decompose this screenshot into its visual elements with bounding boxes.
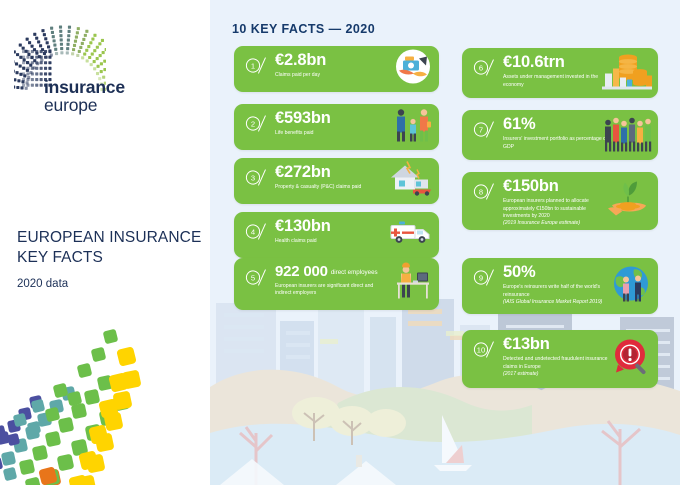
fact-description-text: Life benefits paid	[275, 130, 314, 136]
fact-description-text: Claims paid per day	[275, 72, 320, 78]
globe-business-people-icon	[610, 264, 652, 309]
fact-number-badge-8: 8	[473, 181, 496, 202]
main-panel: 10 KEY FACTS — 2020 1 €2.8bnClaims paid …	[210, 0, 680, 485]
fact-card-8[interactable]: 8 €150bnEuropean insurers planned to all…	[462, 172, 658, 230]
fact-card-2[interactable]: 2 €593bnLife benefits paid	[234, 104, 439, 150]
brand-wordmark: insurance europe	[44, 78, 125, 115]
fact-description-text: Health claims paid	[275, 238, 317, 244]
svg-text:10: 10	[477, 345, 485, 354]
fact-note-9: (IAIS Global Insurance Market Report 201…	[503, 299, 602, 305]
svg-text:2: 2	[251, 119, 255, 128]
fact-value-2: €593bn	[275, 110, 395, 128]
fact-body: €13bnDetected and undetected fraudulent …	[503, 336, 614, 378]
office-worker-desk-icon	[393, 263, 433, 306]
left-panel: insurance europe EUROPEAN INSURANCE KEY …	[0, 0, 210, 485]
fact-description-text: Property & casualty (P&C) claims paid	[275, 184, 361, 190]
svg-text:1: 1	[251, 61, 255, 70]
fact-description-5: European insurers are significant direct…	[275, 283, 383, 297]
fact-body: 922 000direct employeesEuropean insurers…	[275, 264, 383, 297]
fact-unit-5: direct employees	[328, 269, 378, 276]
crowd-of-people-icon	[602, 113, 652, 158]
fact-card-9[interactable]: 9 50%Europe's reinsurers write half of t…	[462, 258, 658, 314]
fact-number-badge-2: 2	[245, 113, 268, 134]
ambulance-icon	[389, 220, 433, 251]
infographic-page: insurance europe EUROPEAN INSURANCE KEY …	[0, 0, 680, 485]
page-subtitle: 2020 data	[17, 278, 68, 290]
fact-body: 61%Insurers' investment portfolio as per…	[503, 116, 614, 151]
fact-card-5[interactable]: 5 922 000direct employeesEuropean insure…	[234, 258, 439, 310]
fact-card-4[interactable]: 4 €130bnHealth claims paid	[234, 212, 439, 258]
fact-description-1: Claims paid per day	[275, 72, 395, 79]
family-people-icon	[393, 106, 433, 149]
fact-value-10: €13bn	[503, 336, 614, 354]
fact-value-7: 61%	[503, 116, 614, 134]
mosaic-swoosh-graphic	[0, 318, 210, 485]
fact-description-text: Assets under management invested in the …	[503, 74, 598, 87]
fact-description-9: Europe's reinsurers write half of the wo…	[503, 284, 614, 306]
svg-text:6: 6	[479, 63, 483, 72]
money-hands-circle-icon	[393, 47, 433, 92]
fact-value-5: 922 000direct employees	[275, 264, 383, 280]
fact-value-1: €2.8bn	[275, 52, 395, 70]
fact-description-text: Detected and undetected fraudulent insur…	[503, 356, 608, 369]
logo-line2: europe	[44, 96, 125, 114]
fact-description-text: Insurers' investment portfolio as percen…	[503, 136, 607, 149]
fact-body: €272bnProperty & casualty (P&C) claims p…	[275, 164, 395, 192]
svg-text:8: 8	[479, 187, 483, 196]
fact-number-badge-6: 6	[473, 57, 496, 78]
fact-card-1[interactable]: 1 €2.8bnClaims paid per day	[234, 46, 439, 92]
fact-description-3: Property & casualty (P&C) claims paid	[275, 184, 395, 191]
fact-number-badge-4: 4	[245, 221, 268, 242]
fact-description-2: Life benefits paid	[275, 130, 395, 137]
fact-number-badge-3: 3	[245, 167, 268, 188]
fact-description-6: Assets under management invested in the …	[503, 74, 614, 88]
main-title: 10 KEY FACTS — 2020	[232, 22, 375, 36]
svg-text:3: 3	[251, 173, 255, 182]
fact-value-8: €150bn	[503, 178, 614, 196]
fact-number-badge-9: 9	[473, 267, 496, 288]
fact-number-badge-7: 7	[473, 119, 496, 140]
fact-description-10: Detected and undetected fraudulent insur…	[503, 356, 614, 378]
fact-card-6[interactable]: 6 €10.6trnAssets under management invest…	[462, 48, 658, 98]
page-title: EUROPEAN INSURANCE KEY FACTS	[17, 228, 207, 268]
fact-card-3[interactable]: 3 €272bnProperty & casualty (P&C) claims…	[234, 158, 439, 204]
fact-description-7: Insurers' investment portfolio as percen…	[503, 136, 614, 150]
logo-line1: insurance	[44, 78, 125, 96]
fact-card-10[interactable]: 10 €13bnDetected and undetected fraudule…	[462, 330, 658, 388]
svg-text:5: 5	[251, 273, 255, 282]
coins-stack-city-icon	[602, 50, 652, 97]
fact-value-3: €272bn	[275, 164, 395, 182]
hand-plant-coins-icon	[606, 178, 652, 225]
fact-note-8: (2019 Insurance Europe estimate)	[503, 220, 580, 226]
page-title-line2: KEY FACTS	[17, 248, 207, 268]
fact-body: €10.6trnAssets under management invested…	[503, 54, 614, 89]
fact-description-4: Health claims paid	[275, 238, 395, 245]
fact-value-6: €10.6trn	[503, 54, 614, 72]
page-title-line1: EUROPEAN INSURANCE	[17, 228, 207, 248]
fact-value-9: 50%	[503, 264, 614, 282]
svg-text:4: 4	[251, 227, 255, 236]
fact-note-10: (2017 estimate)	[503, 371, 538, 377]
damaged-house-car-icon	[387, 160, 433, 203]
fact-number-badge-10: 10	[473, 339, 496, 360]
fact-number-badge-1: 1	[245, 55, 268, 76]
svg-text:7: 7	[479, 125, 483, 134]
fact-description-8: European insurers planned to allocate ap…	[503, 198, 614, 227]
brand-logo: insurance europe	[14, 22, 199, 104]
fact-number-badge-5: 5	[245, 267, 268, 288]
fact-description-text: European insurers are significant direct…	[275, 283, 373, 296]
fact-body: €2.8bnClaims paid per day	[275, 52, 395, 80]
fact-body: €150bnEuropean insurers planned to alloc…	[503, 178, 614, 227]
svg-text:9: 9	[479, 273, 483, 282]
fact-description-text: Europe's reinsurers write half of the wo…	[503, 284, 600, 297]
fact-body: €593bnLife benefits paid	[275, 110, 395, 138]
fact-value-4: €130bn	[275, 218, 395, 236]
fact-description-text: European insurers planned to allocate ap…	[503, 198, 589, 218]
magnifier-fraud-alert-icon	[612, 337, 652, 382]
fact-body: €130bnHealth claims paid	[275, 218, 395, 246]
fact-card-7[interactable]: 7 61%Insurers' investment portfolio as p…	[462, 110, 658, 160]
fact-body: 50%Europe's reinsurers write half of the…	[503, 264, 614, 306]
